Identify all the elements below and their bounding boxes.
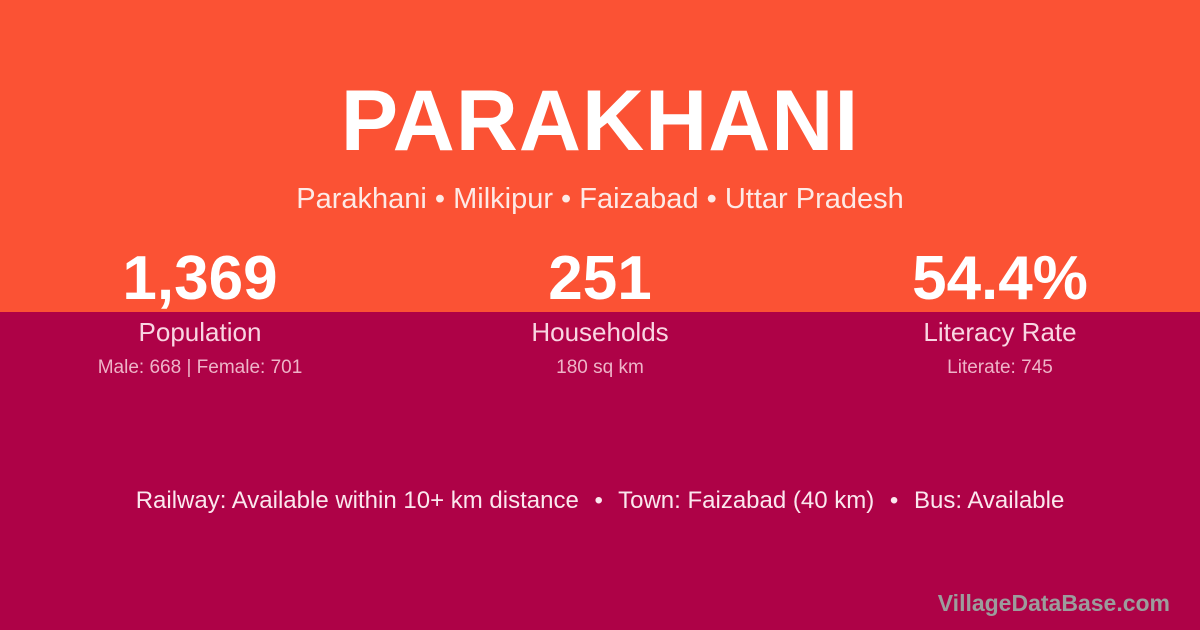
stat-literacy-rate-label: Literacy Rate <box>800 316 1200 349</box>
village-info-card: PARAKHANI Parakhani • Milkipur • Faizaba… <box>0 0 1200 630</box>
stat-population-label: Population <box>0 316 400 349</box>
stat-households-label: Households <box>400 316 800 349</box>
breadcrumb: Parakhani • Milkipur • Faizabad • Uttar … <box>0 182 1200 217</box>
stat-households-detail: 180 sq km <box>400 357 800 380</box>
stat-literacy-rate-value: 54.4% <box>800 248 1200 312</box>
stats-row: 1,369 Population Male: 668 | Female: 701… <box>0 248 1200 379</box>
site-watermark: VillageDataBase.com <box>938 590 1170 618</box>
facility-town: Town: Faizabad (40 km) <box>618 487 874 514</box>
facility-separator-1: • <box>585 487 611 514</box>
stat-population-value: 1,369 <box>0 248 400 312</box>
facility-railway: Railway: Available within 10+ km distanc… <box>136 487 579 514</box>
stat-households: 251 Households 180 sq km <box>400 248 800 379</box>
stat-literacy-rate: 54.4% Literacy Rate Literate: 745 <box>800 248 1200 379</box>
stat-literacy-rate-detail: Literate: 745 <box>800 357 1200 380</box>
facilities-line: Railway: Available within 10+ km distanc… <box>0 485 1200 516</box>
facility-bus: Bus: Available <box>914 487 1064 514</box>
stat-population-detail: Male: 668 | Female: 701 <box>0 357 400 380</box>
stat-population: 1,369 Population Male: 668 | Female: 701 <box>0 248 400 379</box>
stat-households-value: 251 <box>400 248 800 312</box>
facility-separator-2: • <box>881 487 907 514</box>
page-title: PARAKHANI <box>0 78 1200 164</box>
